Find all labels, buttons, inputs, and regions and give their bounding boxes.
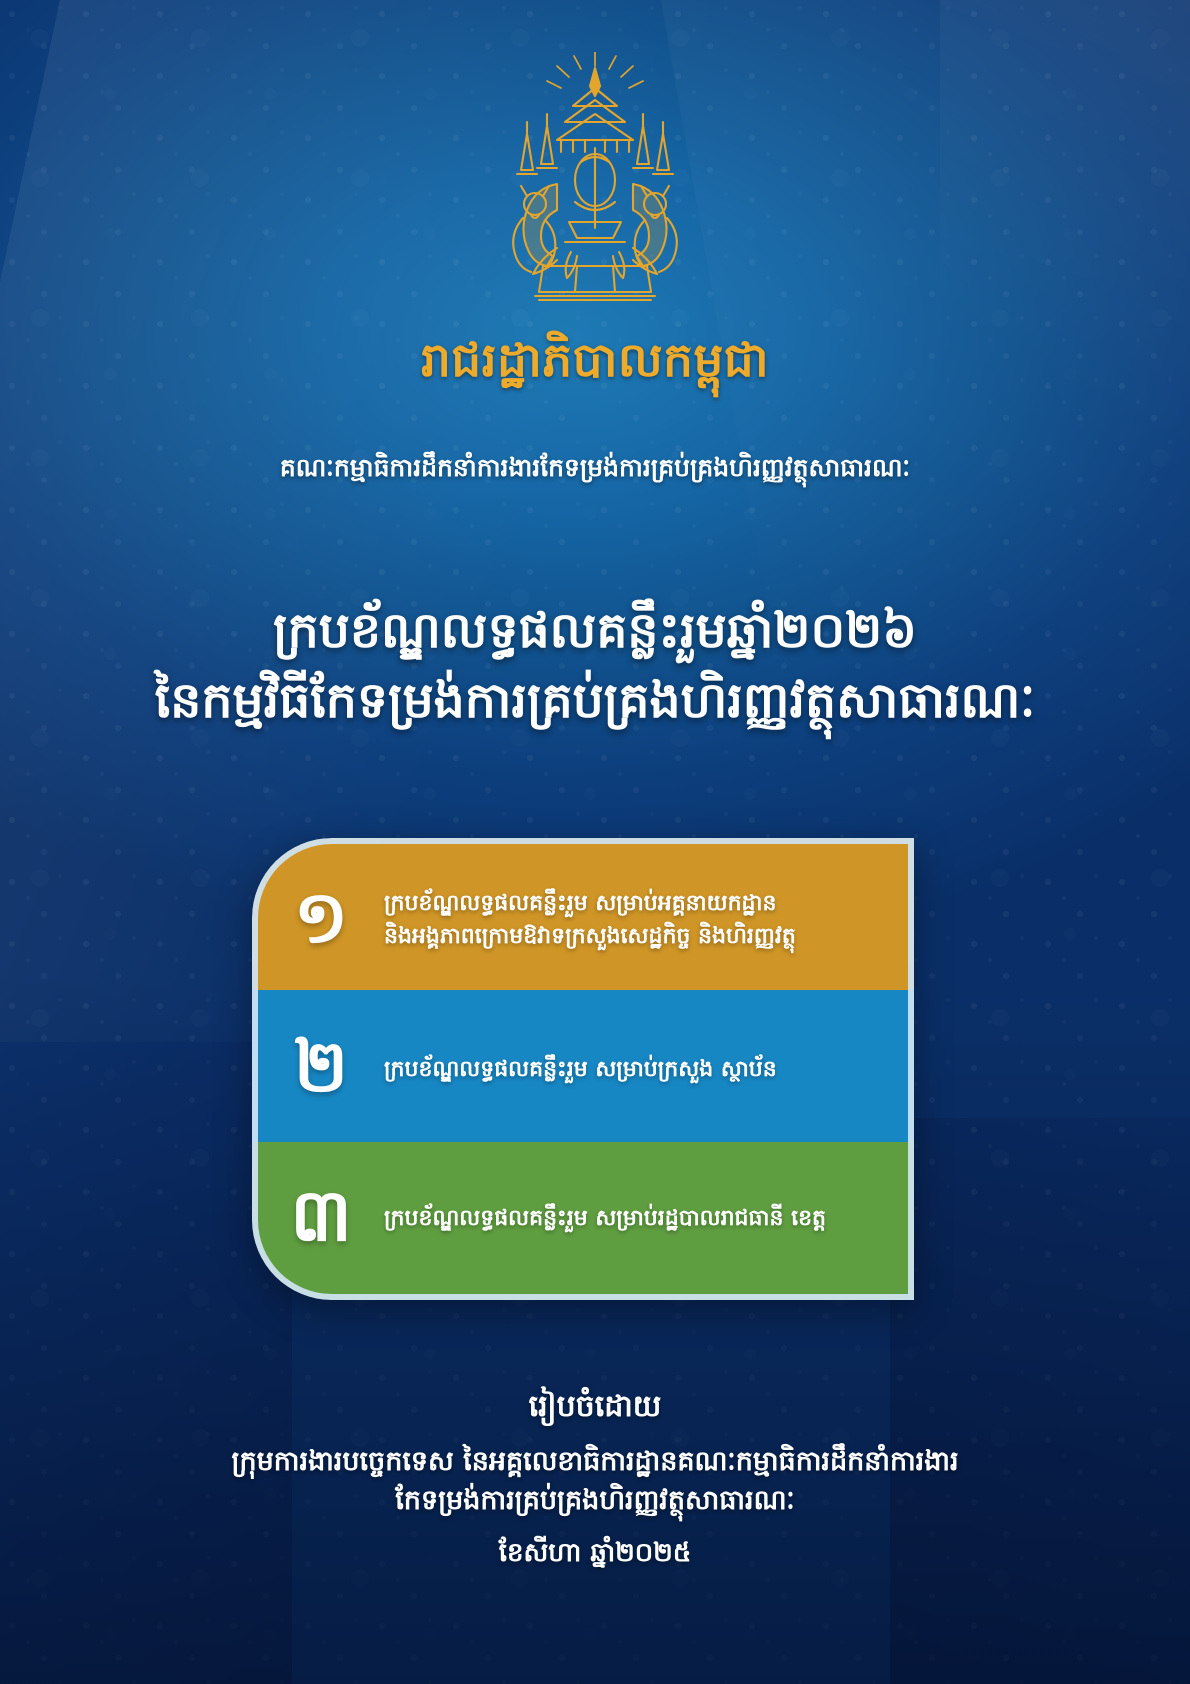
prepared-by-label: រៀបចំដោយ <box>74 1386 1116 1428</box>
band-3-text: ក្របខ័ណ្ឌលទ្ធផលគន្លឹះរួម សម្រាប់រដ្ឋបាលរ… <box>384 1202 908 1235</box>
committee-subtitle: គណៈកម្មាធិការដឹកនាំការងារកែទម្រង់ការគ្រប… <box>0 452 1190 485</box>
band-1-text: ក្របខ័ណ្ឌលទ្ធផលគន្លឹះរួម សម្រាប់អគ្គនាយក… <box>384 887 908 953</box>
band-1-numeral: ១ <box>258 881 384 959</box>
organisation-line-1: ក្រុមការងារបច្ចេកទេស នៃអគ្គលេខាធិការដ្ឋា… <box>74 1442 1116 1481</box>
band-2-text: ក្របខ័ណ្ឌលទ្ធផលគន្លឹះរួម សម្រាប់ក្រសួង ស… <box>384 1053 908 1086</box>
band-3-text-line-1: ក្របខ័ណ្ឌលទ្ធផលគន្លឹះរួម សម្រាប់រដ្ឋបាលរ… <box>384 1202 874 1235</box>
poster-page: រាជរដ្ឋាភិបាលកម្ពុជា គណៈកម្មាធិការដឹកនាំ… <box>0 0 1190 1684</box>
framework-band-list: ១ ក្របខ័ណ្ឌលទ្ធផលគន្លឹះរួម សម្រាប់អគ្គនា… <box>252 838 914 1308</box>
framework-band-3[interactable]: ៣ ក្របខ័ណ្ឌលទ្ធផលគន្លឹះរួម សម្រាប់រដ្ឋបា… <box>252 1142 914 1300</box>
page-title: ក្របខ័ណ្ឌលទ្ធផលគន្លឹះរួមឆ្នាំ២០២៦ នៃកម្ម… <box>0 596 1190 735</box>
band-1-text-line-1: ក្របខ័ណ្ឌលទ្ធផលគន្លឹះរួម សម្រាប់អគ្គនាយក… <box>384 887 874 920</box>
page-title-line-2: នៃកម្មវិធីកែទម្រង់ការគ្រប់គ្រងហិរញ្ញវត្ថ… <box>48 666 1142 736</box>
government-title: រាជរដ្ឋាភិបាលកម្ពុជា <box>0 332 1190 389</box>
footer-block: រៀបចំដោយ ក្រុមការងារបច្ចេកទេស នៃអគ្គលេខា… <box>0 1386 1190 1573</box>
framework-band-1[interactable]: ១ ក្របខ័ណ្ឌលទ្ធផលគន្លឹះរួម សម្រាប់អគ្គនា… <box>252 838 914 996</box>
band-2-numeral: ២ <box>258 1030 384 1108</box>
background-block-bottom-left <box>0 1042 292 1684</box>
band-1-text-line-2: និងអង្គភាពក្រោមឱវាទក្រសួងសេដ្ឋកិច្ច និងហ… <box>384 920 874 953</box>
royal-arms-of-cambodia-icon <box>461 52 729 304</box>
page-title-line-1: ក្របខ័ណ្ឌលទ្ធផលគន្លឹះរួមឆ្នាំ២០២៦ <box>273 602 917 659</box>
emblem-container <box>0 52 1190 304</box>
band-2-text-line-1: ក្របខ័ណ្ឌលទ្ធផលគន្លឹះរួម សម្រាប់ក្រសួង ស… <box>384 1053 874 1086</box>
organisation-line-2: កែទម្រង់ការគ្រប់គ្រងហិរញ្ញវត្ថុសាធារណៈ <box>74 1481 1116 1520</box>
band-3-numeral: ៣ <box>258 1179 384 1257</box>
framework-band-2[interactable]: ២ ក្របខ័ណ្ឌលទ្ធផលគន្លឹះរួម សម្រាប់ក្រសួង… <box>252 990 914 1148</box>
publication-date: ខែសីហា ឆ្នាំ២០២៥ <box>74 1534 1116 1573</box>
